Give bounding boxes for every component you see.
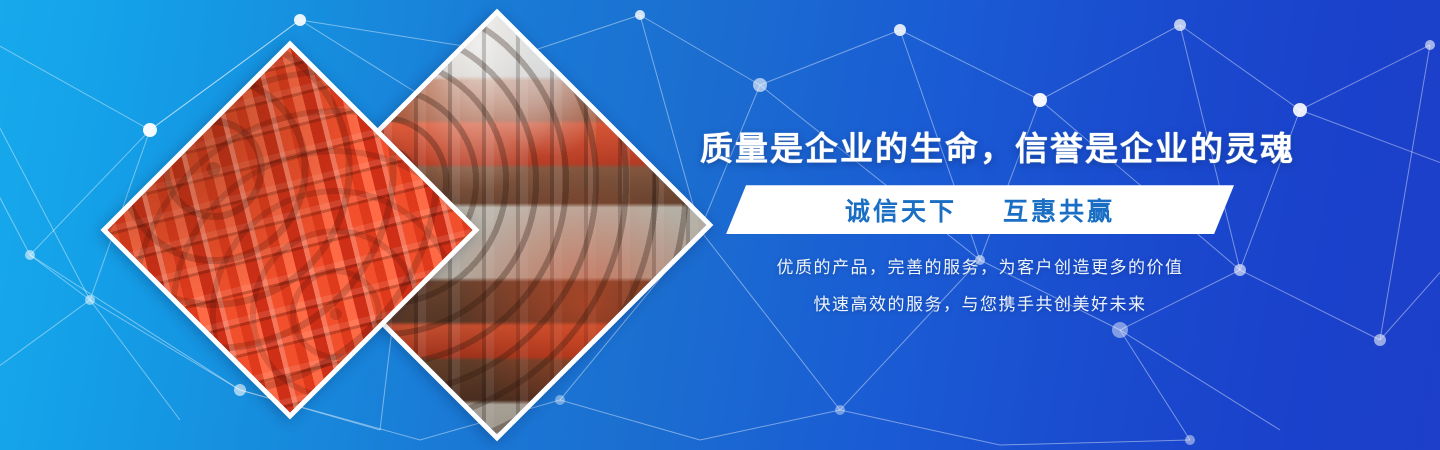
promo-banner: 质量是企业的生命，信誉是企业的灵魂 诚信天下 互惠共赢 优质的产品，完善的服务，… bbox=[0, 0, 1440, 450]
banner-headline: 质量是企业的生命，信誉是企业的灵魂 bbox=[700, 128, 1260, 169]
banner-subline-2: 快速高效的服务，与您携手共创美好未来 bbox=[700, 296, 1260, 313]
slogan-left: 诚信天下 bbox=[845, 198, 957, 226]
banner-subline-1: 优质的产品，完善的服务，为客户创造更多的价值 bbox=[700, 259, 1260, 276]
slogan-ribbon-text: 诚信天下 互惠共赢 bbox=[845, 192, 1115, 228]
banner-text-block: 质量是企业的生命，信誉是企业的灵魂 诚信天下 互惠共赢 优质的产品，完善的服务，… bbox=[700, 128, 1260, 313]
slogan-ribbon: 诚信天下 互惠共赢 bbox=[726, 185, 1234, 234]
slogan-right: 互惠共赢 bbox=[1003, 198, 1115, 226]
